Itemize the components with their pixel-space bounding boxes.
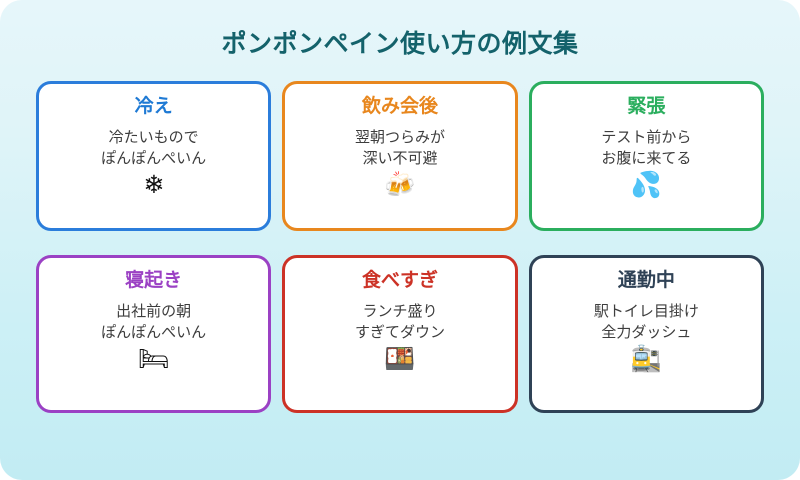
card-body-text: テスト前から お腹に来てる (601, 127, 691, 170)
bento-box-icon: 🍱 (384, 346, 415, 371)
example-card-nomikai-go[interactable]: 飲み会後 翌朝つらみが 深い不可避 🍻 (282, 81, 517, 231)
page-title: ポンポンペイン使い方の例文集 (0, 0, 800, 60)
example-card-tabesugi[interactable]: 食べすぎ ランチ盛り すぎてダウン 🍱 (282, 255, 517, 413)
card-title: 冷え (135, 96, 173, 118)
card-body-text: 出社前の朝 ぽんぽんぺいん (101, 301, 206, 344)
card-body-text: 冷たいもので ぽんぽんぺいん (101, 127, 206, 170)
bed-icon: 🛏 (138, 346, 170, 371)
train-station-icon: 🚉 (631, 346, 662, 371)
card-body-text: 駅トイレ目掛け 全力ダッシュ (594, 301, 699, 344)
example-card-grid: 冷え 冷たいもので ぽんぽんぺいん ❄ 飲み会後 翌朝つらみが 深い不可避 🍻 … (0, 60, 800, 413)
sweat-droplets-icon: 💦 (631, 172, 662, 197)
snowflake-icon: ❄ (143, 172, 164, 197)
card-title: 寝起き (125, 270, 182, 292)
poster-canvas: ポンポンペイン使い方の例文集 冷え 冷たいもので ぽんぽんぺいん ❄ 飲み会後 … (0, 0, 800, 480)
example-card-kincho[interactable]: 緊張 テスト前から お腹に来てる 💦 (529, 81, 764, 231)
card-title: 飲み会後 (362, 96, 438, 118)
card-body-text: ランチ盛り すぎてダウン (355, 301, 445, 344)
example-card-tsukinchu[interactable]: 通勤中 駅トイレ目掛け 全力ダッシュ 🚉 (529, 255, 764, 413)
card-title: 緊張 (627, 96, 665, 118)
card-title: 食べすぎ (362, 270, 438, 292)
clinking-beer-mugs-icon: 🍻 (384, 172, 415, 197)
example-card-neoki[interactable]: 寝起き 出社前の朝 ぽんぽんぺいん 🛏 (36, 255, 271, 413)
card-body-text: 翌朝つらみが 深い不可避 (355, 127, 445, 170)
card-title: 通勤中 (618, 270, 675, 292)
example-card-hie[interactable]: 冷え 冷たいもので ぽんぽんぺいん ❄ (36, 81, 271, 231)
